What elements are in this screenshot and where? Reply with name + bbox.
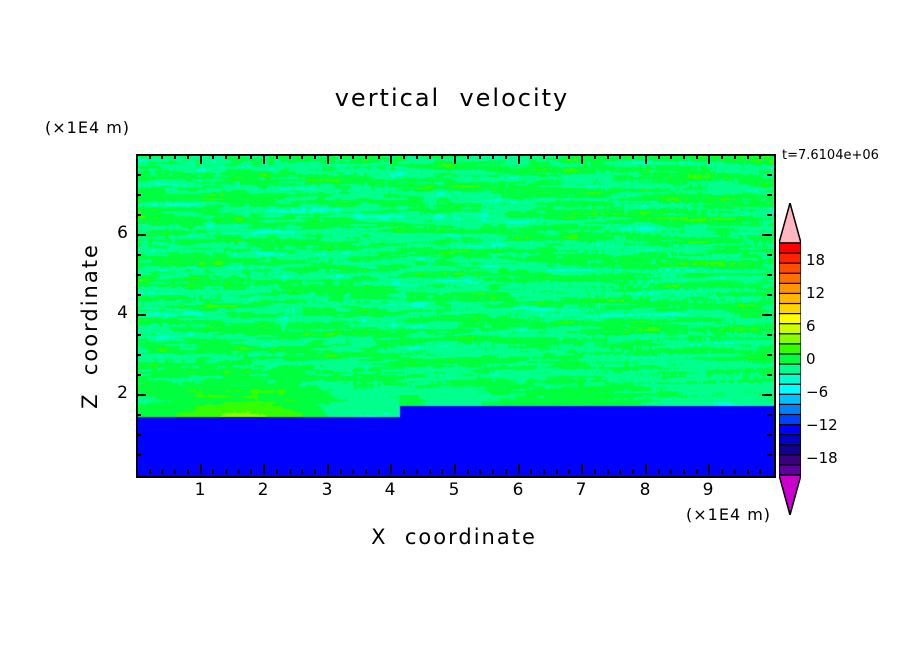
x-minor-tick-top [416, 154, 418, 159]
x-minor-tick [301, 469, 303, 474]
x-minor-tick-top [378, 154, 380, 159]
x-minor-tick-top [759, 154, 761, 159]
x-major-tick-top-7 [581, 154, 583, 164]
y-minor-tick-right [767, 274, 772, 276]
y-minor-tick [136, 374, 141, 376]
colorbar-band-4 [779, 283, 801, 294]
x-minor-tick [161, 469, 163, 474]
x-tick-label-1: 1 [185, 480, 215, 500]
x-major-tick-1 [200, 464, 202, 474]
x-minor-tick [250, 469, 252, 474]
colorbar-label-1: 12 [806, 284, 825, 302]
x-minor-tick-top [670, 154, 672, 159]
x-minor-tick-top [683, 154, 685, 159]
x-minor-tick-top [352, 154, 354, 159]
x-major-tick-top-5 [454, 154, 456, 164]
x-minor-tick-top [161, 154, 163, 159]
x-minor-tick [352, 469, 354, 474]
x-minor-tick-top [250, 154, 252, 159]
x-minor-tick [696, 469, 698, 474]
x-major-tick-2 [263, 464, 265, 474]
x-minor-tick-top [747, 154, 749, 159]
x-minor-tick [441, 469, 443, 474]
x-minor-tick-top [149, 154, 151, 159]
y-minor-tick [136, 354, 141, 356]
colorbar-band-17 [779, 414, 801, 425]
x-axis-unit-label: (×1E4 m) [686, 505, 771, 524]
x-major-tick-top-2 [263, 154, 265, 164]
y-minor-tick-right [767, 194, 772, 196]
x-minor-tick-top [607, 154, 609, 159]
colorbar[interactable] [779, 203, 801, 515]
colorbar-label-0: 18 [806, 251, 825, 269]
x-major-tick-top-6 [518, 154, 520, 164]
y-tick-label-6: 6 [104, 223, 128, 243]
colorbar-under-arrow [779, 475, 801, 515]
colorbar-swatches [779, 203, 801, 515]
x-major-tick-top-9 [708, 154, 710, 164]
y-major-tick-right-4 [762, 314, 772, 316]
y-minor-tick [136, 274, 141, 276]
x-minor-tick [543, 469, 545, 474]
colorbar-label-5: −12 [806, 416, 838, 434]
y-tick-label-2: 2 [104, 383, 128, 403]
colorbar-band-5 [779, 293, 801, 304]
x-minor-tick-top [174, 154, 176, 159]
colorbar-band-16 [779, 404, 801, 415]
y-minor-tick [136, 294, 141, 296]
x-minor-tick [479, 469, 481, 474]
x-minor-tick [505, 469, 507, 474]
x-minor-tick [403, 469, 405, 474]
x-minor-tick-top [658, 154, 660, 159]
x-minor-tick-top [530, 154, 532, 159]
colorbar-band-15 [779, 394, 801, 405]
x-tick-label-8: 8 [630, 480, 660, 500]
y-minor-tick-right [767, 434, 772, 436]
timestamp-annotation: t=7.6104e+06 [782, 148, 879, 163]
y-minor-tick-right [767, 334, 772, 336]
x-minor-tick-top [187, 154, 189, 159]
y-minor-tick [136, 334, 141, 336]
x-minor-tick-top [505, 154, 507, 159]
x-minor-tick-top [403, 154, 405, 159]
colorbar-label-3: 0 [806, 350, 816, 368]
y-major-tick-2 [136, 394, 146, 396]
colorbar-band-0 [779, 243, 801, 254]
y-minor-tick [136, 434, 141, 436]
x-minor-tick-top [632, 154, 634, 159]
x-minor-tick [174, 469, 176, 474]
colorbar-band-20 [779, 445, 801, 456]
y-minor-tick-right [767, 354, 772, 356]
colorbar-band-14 [779, 384, 801, 395]
x-tick-label-4: 4 [375, 480, 405, 500]
x-minor-tick-top [568, 154, 570, 159]
y-minor-tick-right [767, 214, 772, 216]
x-minor-tick [225, 469, 227, 474]
y-major-tick-4 [136, 314, 146, 316]
x-minor-tick [429, 469, 431, 474]
y-minor-tick-right [767, 374, 772, 376]
x-minor-tick [340, 469, 342, 474]
y-minor-tick-right [767, 414, 772, 416]
y-minor-tick-right [767, 454, 772, 456]
colorbar-band-12 [779, 364, 801, 375]
y-minor-tick-right [767, 254, 772, 256]
figure-canvas: vertical velocity (×1E4 m) t=7.6104e+06 … [0, 0, 904, 654]
x-minor-tick-top [301, 154, 303, 159]
colorbar-band-6 [779, 304, 801, 315]
x-minor-tick [238, 469, 240, 474]
x-minor-tick-top [365, 154, 367, 159]
x-minor-tick [632, 469, 634, 474]
colorbar-band-2 [779, 263, 801, 274]
x-minor-tick-top [721, 154, 723, 159]
x-minor-tick [276, 469, 278, 474]
x-minor-tick [467, 469, 469, 474]
x-minor-tick-top [289, 154, 291, 159]
x-minor-tick [734, 469, 736, 474]
y-major-tick-right-2 [762, 394, 772, 396]
y-minor-tick [136, 414, 141, 416]
y-minor-tick-right [767, 174, 772, 176]
x-minor-tick [747, 469, 749, 474]
y-major-tick-right-6 [762, 234, 772, 236]
x-minor-tick [530, 469, 532, 474]
page-title: vertical velocity [0, 84, 904, 112]
x-minor-tick [365, 469, 367, 474]
contour-field [138, 156, 774, 476]
x-minor-tick-top [556, 154, 558, 159]
colorbar-band-9 [779, 334, 801, 345]
x-tick-label-6: 6 [503, 480, 533, 500]
y-minor-tick [136, 194, 141, 196]
x-major-tick-8 [645, 464, 647, 474]
x-tick-label-9: 9 [693, 480, 723, 500]
y-minor-tick [136, 214, 141, 216]
x-minor-tick [568, 469, 570, 474]
x-minor-tick-top [429, 154, 431, 159]
x-minor-tick-top [314, 154, 316, 159]
x-major-tick-4 [390, 464, 392, 474]
y-major-tick-6 [136, 234, 146, 236]
x-minor-tick-top [238, 154, 240, 159]
y-tick-label-4: 4 [104, 303, 128, 323]
colorbar-band-19 [779, 435, 801, 446]
colorbar-band-22 [779, 465, 801, 476]
colorbar-band-21 [779, 455, 801, 466]
x-axis-title: X coordinate [136, 525, 772, 549]
x-minor-tick [187, 469, 189, 474]
x-major-tick-top-3 [327, 154, 329, 164]
x-minor-tick [289, 469, 291, 474]
x-minor-tick-top [492, 154, 494, 159]
x-major-tick-5 [454, 464, 456, 474]
colorbar-label-2: 6 [806, 317, 816, 335]
x-minor-tick [721, 469, 723, 474]
x-major-tick-top-4 [390, 154, 392, 164]
y-minor-tick [136, 454, 141, 456]
x-major-tick-top-1 [200, 154, 202, 164]
y-axis-title: Z coordinate [78, 216, 102, 436]
x-minor-tick-top [212, 154, 214, 159]
x-minor-tick-top [543, 154, 545, 159]
plot-area[interactable] [136, 154, 776, 478]
x-minor-tick [314, 469, 316, 474]
y-axis-unit-label: (×1E4 m) [45, 118, 130, 137]
x-minor-tick-top [734, 154, 736, 159]
x-major-tick-6 [518, 464, 520, 474]
x-minor-tick [670, 469, 672, 474]
colorbar-label-6: −18 [806, 449, 838, 467]
colorbar-label-4: −6 [806, 383, 828, 401]
colorbar-band-7 [779, 314, 801, 325]
x-minor-tick [492, 469, 494, 474]
x-minor-tick [607, 469, 609, 474]
x-minor-tick-top [619, 154, 621, 159]
x-tick-label-7: 7 [566, 480, 596, 500]
x-minor-tick [378, 469, 380, 474]
x-tick-label-5: 5 [439, 480, 469, 500]
x-minor-tick-top [340, 154, 342, 159]
x-minor-tick-top [479, 154, 481, 159]
colorbar-band-13 [779, 374, 801, 385]
x-minor-tick [212, 469, 214, 474]
x-minor-tick [658, 469, 660, 474]
colorbar-band-11 [779, 354, 801, 365]
x-minor-tick [556, 469, 558, 474]
colorbar-over-arrow [779, 203, 801, 243]
x-tick-label-3: 3 [312, 480, 342, 500]
y-minor-tick [136, 174, 141, 176]
y-minor-tick [136, 254, 141, 256]
colorbar-band-1 [779, 253, 801, 264]
colorbar-band-8 [779, 324, 801, 335]
y-minor-tick-right [767, 294, 772, 296]
x-minor-tick-top [441, 154, 443, 159]
x-minor-tick-top [594, 154, 596, 159]
x-minor-tick [416, 469, 418, 474]
colorbar-band-18 [779, 425, 801, 436]
x-major-tick-7 [581, 464, 583, 474]
x-minor-tick-top [467, 154, 469, 159]
x-minor-tick [594, 469, 596, 474]
x-minor-tick [759, 469, 761, 474]
x-major-tick-3 [327, 464, 329, 474]
colorbar-band-3 [779, 273, 801, 284]
x-minor-tick-top [225, 154, 227, 159]
x-minor-tick-top [696, 154, 698, 159]
x-major-tick-top-8 [645, 154, 647, 164]
x-minor-tick [619, 469, 621, 474]
colorbar-band-10 [779, 344, 801, 355]
x-minor-tick [683, 469, 685, 474]
x-tick-label-2: 2 [248, 480, 278, 500]
x-minor-tick-top [276, 154, 278, 159]
x-minor-tick [149, 469, 151, 474]
x-major-tick-9 [708, 464, 710, 474]
